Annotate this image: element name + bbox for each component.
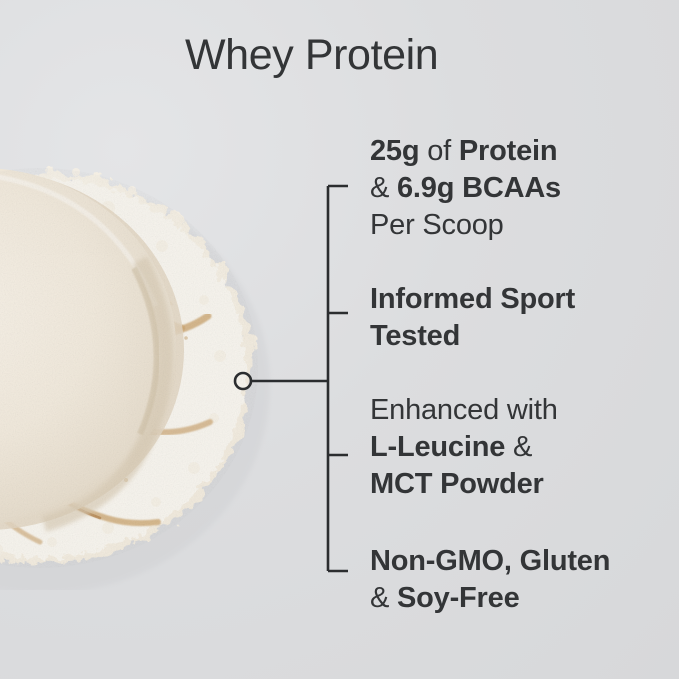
callout-text-segment: & <box>505 431 532 463</box>
callout-line: & Soy-Free <box>370 580 610 617</box>
callout-text-segment: Soy-Free <box>397 582 520 614</box>
callout-line: L-Leucine & <box>370 429 558 466</box>
callout-text-segment: 25g <box>370 135 419 167</box>
callout-text-segment: MCT Powder <box>370 468 544 500</box>
callout-informed-sport: Informed SportTested <box>370 281 575 355</box>
callout-line: Tested <box>370 318 575 355</box>
callout-text-segment: Protein <box>459 135 558 167</box>
callout-line: Enhanced with <box>370 392 558 429</box>
callout-non-gmo: Non-GMO, Gluten& Soy-Free <box>370 543 610 617</box>
callout-text-segment: Per Scoop <box>370 209 504 241</box>
callout-leucine-mct: Enhanced withL-Leucine &MCT Powder <box>370 392 558 503</box>
callout-text-segment: Tested <box>370 320 460 352</box>
infographic-canvas: Whey Protein 25g of Protein& 6.9g BCAAsP… <box>0 0 679 679</box>
callout-line: Per Scoop <box>370 207 561 244</box>
callout-text-segment: L-Leucine <box>370 431 505 463</box>
callout-text-segment: Non-GMO, Gluten <box>370 545 610 577</box>
callout-origin-marker <box>235 373 251 389</box>
callout-line: & 6.9g BCAAs <box>370 170 561 207</box>
callout-line: 25g of Protein <box>370 133 561 170</box>
callout-text-segment: & <box>370 172 397 204</box>
callout-line: Informed Sport <box>370 281 575 318</box>
callout-text-segment: & <box>370 582 397 614</box>
callout-line: Non-GMO, Gluten <box>370 543 610 580</box>
callout-text-segment: Enhanced with <box>370 394 558 426</box>
callout-text-segment: of <box>419 135 459 167</box>
callout-line: MCT Powder <box>370 466 558 503</box>
callout-protein-bcaa: 25g of Protein& 6.9g BCAAsPer Scoop <box>370 133 561 244</box>
callout-text-segment: Informed Sport <box>370 283 575 315</box>
callout-text-segment: 6.9g BCAAs <box>397 172 561 204</box>
